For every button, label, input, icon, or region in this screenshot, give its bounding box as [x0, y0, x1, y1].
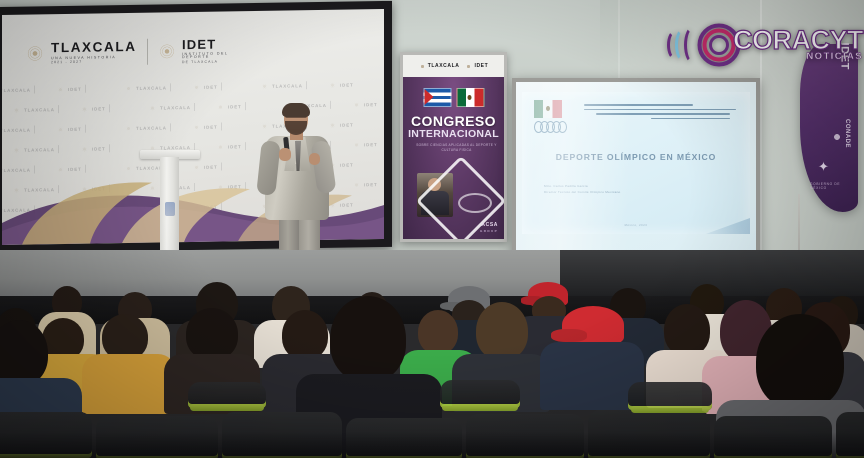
rollup-header: TLAXCALA IDET [403, 55, 504, 77]
tlaxcala-years: 2021 - 2027 [51, 60, 137, 65]
rosette-icon [465, 63, 472, 70]
speaker-beard [285, 121, 307, 135]
audience-seat[interactable] [836, 412, 864, 458]
rollup-flags [423, 88, 484, 107]
olympic-rings-icon [534, 121, 564, 132]
slide-header-rules [584, 104, 736, 122]
audience-seat[interactable] [222, 412, 342, 458]
audience-seat[interactable] [588, 410, 710, 458]
idet-tagline-2: DE TLAXCALA [182, 60, 250, 64]
rollup-subtitle: SOBRE CIENCIAS APLICADAS AL DEPORTE Y CU… [413, 143, 500, 153]
rollup-header-right: IDET [474, 63, 488, 69]
audience-seat[interactable] [440, 380, 520, 408]
rollup-ring-graphic [458, 193, 492, 213]
rollup-sponsor-sub: GROUP [480, 229, 498, 233]
rollup-title-line1: CONGRESO [403, 114, 504, 128]
speaker-hand-left [279, 148, 291, 161]
audience-seat[interactable] [0, 412, 92, 458]
eagle-icon: ✦ [818, 160, 834, 176]
rollup-title-line2: INTERNACIONAL [403, 129, 504, 140]
cuba-flag-icon [423, 88, 451, 107]
slide-footer: México, 2023 [522, 224, 750, 227]
screenshot-root: TLAXCALA IDET TLAXCALA IDET TLAXCALA IDE… [0, 0, 864, 458]
audience-seat[interactable] [466, 414, 584, 458]
rollup-sponsor-name: ACSA [480, 222, 498, 229]
coracyt-watermark-logo: CORACYT NOTICIAS [666, 22, 836, 68]
backdrop-logo-group: TLAXCALA UNA NUEVA HISTORIA 2021 - 2027 … [24, 33, 250, 71]
podium-emblem-icon [165, 202, 175, 216]
slide-author-line2: Director Técnico del Comité Olímpico Mex… [544, 190, 694, 196]
rosette-icon [419, 63, 426, 70]
speaker-hand-right [309, 153, 320, 165]
watermark-brand-name: CORACYT [733, 28, 863, 54]
rollup-banner: TLAXCALA IDET CONGRESO INTERNACIONAL SOB… [400, 52, 507, 242]
tlaxcala-name: TLAXCALA [51, 40, 137, 55]
rosette-icon [157, 40, 177, 62]
projection-screen: DEPORTE OLÍMPICO EN MÉXICO Mtro. Carlos … [512, 78, 760, 264]
rosette-icon [24, 42, 46, 64]
audience-area [0, 262, 864, 458]
audience-seat[interactable] [628, 382, 712, 410]
idet-name: IDET [182, 37, 250, 51]
feather-flag-brand-secondary: CONADE [844, 119, 850, 148]
rollup-body: CONGRESO INTERNACIONAL SOBRE CIENCIAS AP… [403, 77, 504, 239]
audience-seat[interactable] [188, 382, 266, 408]
tlaxcala-logo: TLAXCALA UNA NUEVA HISTORIA 2021 - 2027 [24, 40, 137, 65]
feather-flag-banner: IDET CONADE ✦ GOBIERNO DE MÉXICO [796, 44, 858, 234]
mexico-flag-icon [534, 100, 562, 118]
rosette-icon [830, 130, 844, 144]
logo-divider [147, 39, 148, 65]
rollup-header-left: TLAXCALA [428, 63, 460, 69]
slide-title: DEPORTE OLÍMPICO EN MÉXICO [522, 152, 750, 162]
mexico-flag-icon [456, 88, 484, 107]
presentation-slide: DEPORTE OLÍMPICO EN MÉXICO Mtro. Carlos … [522, 92, 750, 234]
rollup-sponsor: ACSA GROUP [480, 222, 498, 233]
audience-seat[interactable] [96, 416, 218, 458]
red-cap-icon [562, 306, 624, 344]
speaker-hair [282, 103, 310, 117]
audience-seat[interactable] [714, 416, 832, 458]
idet-logo: IDET INSTITUTO DEL DEPORTE DE TLAXCALA [157, 37, 250, 65]
feather-flag-cloth: IDET CONADE ✦ GOBIERNO DE MÉXICO [800, 44, 858, 212]
feather-flag-footer: GOBIERNO DE MÉXICO [810, 182, 858, 190]
slide-author: Mtro. Carlos Padilla García Director Téc… [544, 184, 694, 196]
coracyt-ring-icon [701, 27, 737, 63]
audience-seat[interactable] [346, 418, 462, 458]
